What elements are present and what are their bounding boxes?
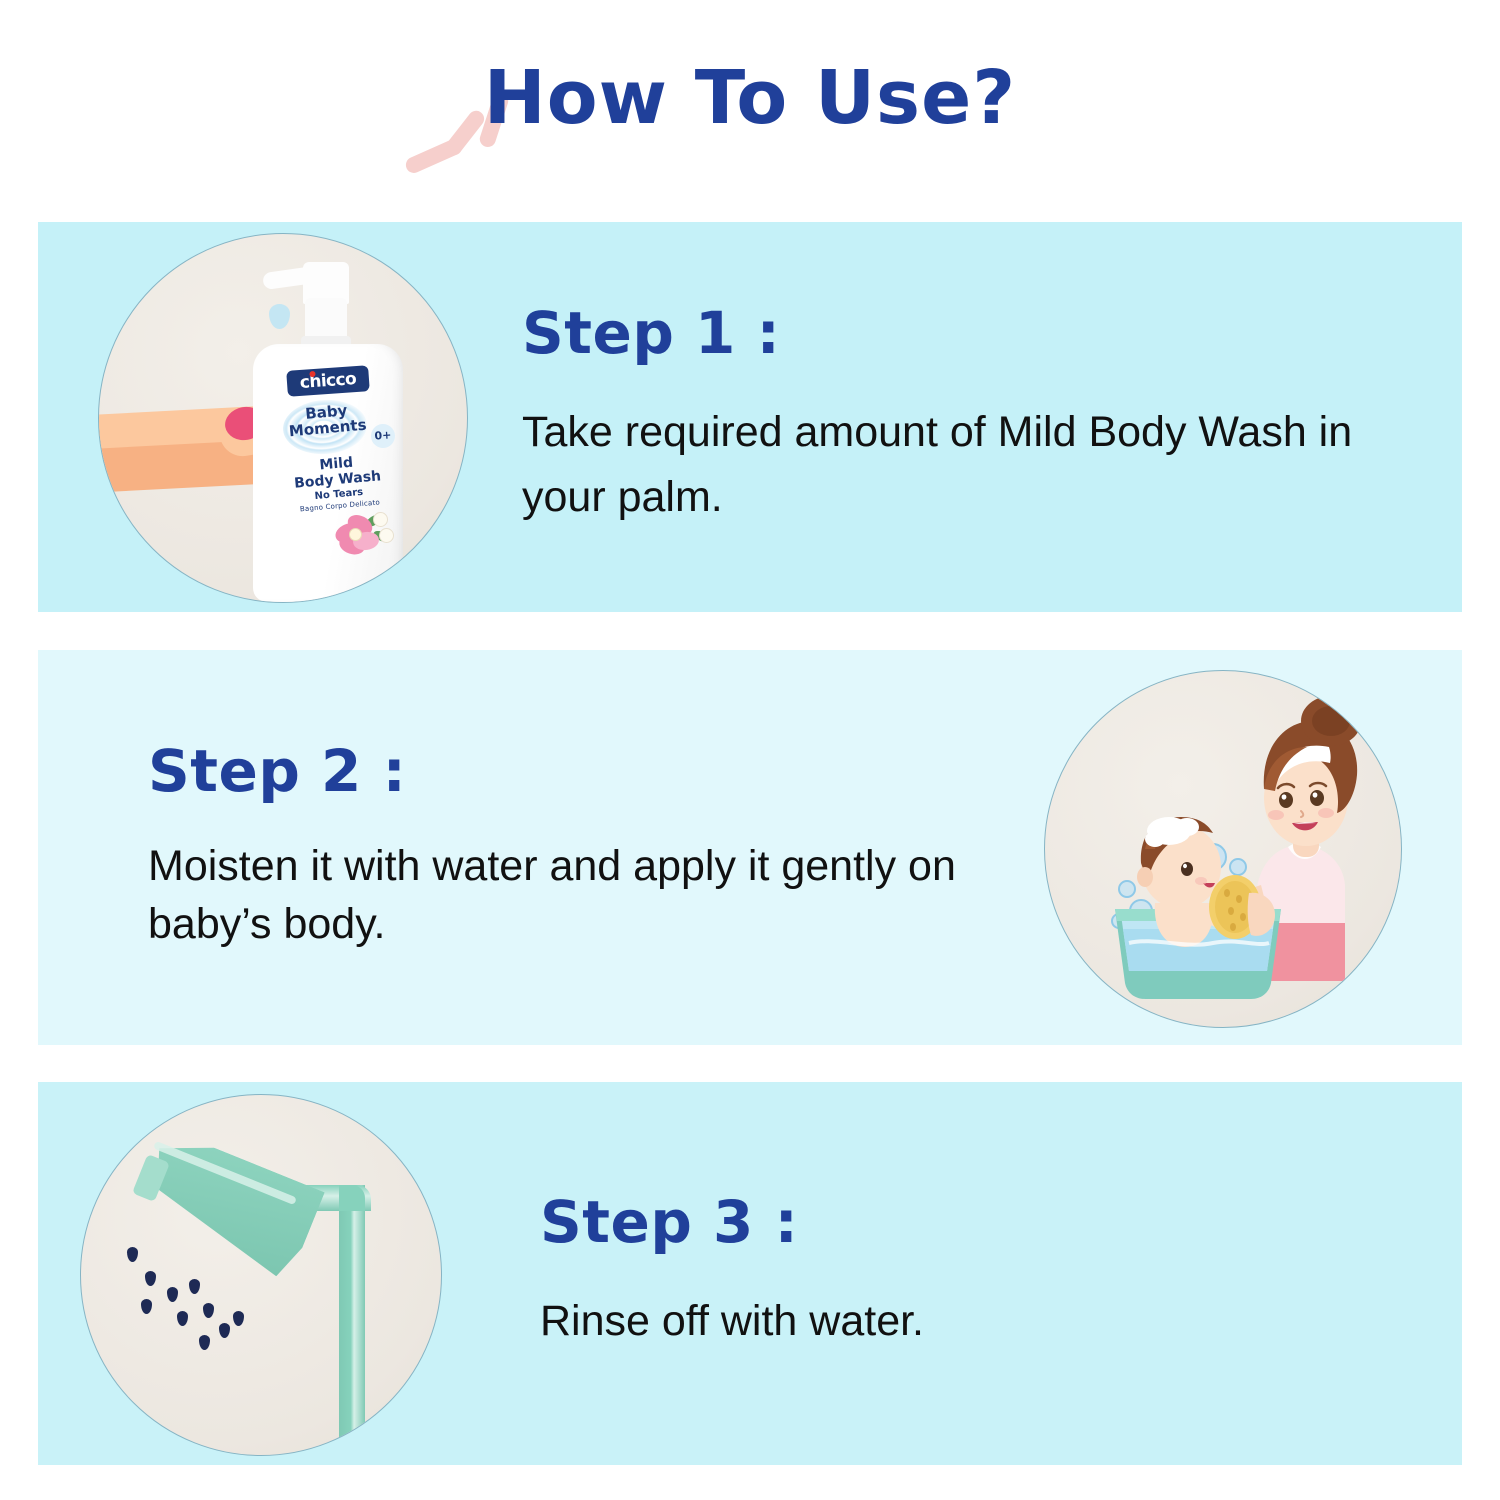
water-drop-5: [189, 1279, 200, 1294]
step-2-illustration: [1044, 670, 1400, 1026]
body-wash-bottle-icon: chicco Baby Moments 0+ Mild Body Wash No…: [253, 258, 403, 602]
flower-bud-2: [379, 528, 394, 543]
step-1-description: Take required amount of Mild Body Wash i…: [522, 400, 1422, 531]
step-panel-1: chicco Baby Moments 0+ Mild Body Wash No…: [38, 222, 1462, 612]
water-drop-2: [145, 1271, 156, 1286]
step-1-text-block: Step 1 : Take required amount of Mild Bo…: [466, 304, 1462, 531]
step-3-description: Rinse off with water.: [540, 1289, 1422, 1354]
step-1-illustration: chicco Baby Moments 0+ Mild Body Wash No…: [98, 233, 466, 601]
water-drop-7: [203, 1303, 214, 1318]
shower-pipe-elbow: [339, 1185, 365, 1211]
water-drop-3: [167, 1287, 178, 1302]
shower-pipe-vertical: [339, 1185, 365, 1453]
step-3-label: Step 3 :: [540, 1193, 1422, 1251]
water-drop-6: [177, 1311, 188, 1326]
step-1-label: Step 1 :: [522, 304, 1422, 362]
step-2-description: Moisten it with water and apply it gentl…: [148, 838, 1008, 952]
step-2-circle-frame: [1044, 670, 1402, 1028]
step-2-label: Step 2 :: [148, 742, 1044, 800]
step-panel-3: Step 3 : Rinse off with water.: [38, 1082, 1462, 1465]
step-3-text-block: Step 3 : Rinse off with water.: [440, 1193, 1462, 1354]
water-drop-9: [199, 1335, 210, 1350]
page-title: How To Use?: [0, 60, 1500, 138]
sparkle-slash-3: [403, 136, 464, 175]
mother-and-baby-bathing-scene: [1045, 671, 1401, 1027]
step-3-circle-frame: [80, 1094, 442, 1456]
soap-droplet-icon: [269, 304, 290, 329]
step-2-text-block: Step 2 : Moisten it with water and apply…: [38, 742, 1044, 952]
water-drop-1: [127, 1247, 138, 1262]
product-description: Mild Body Wash No Tears Bagno Corpo Deli…: [281, 451, 395, 516]
step-3-illustration: [80, 1094, 440, 1454]
how-to-use-infographic: How To Use?: [0, 0, 1500, 1500]
flower-center: [349, 528, 362, 541]
flower-bud-1: [373, 512, 388, 527]
water-drop-8: [219, 1323, 230, 1338]
water-drop-4: [141, 1299, 152, 1314]
step-1-circle-frame: chicco Baby Moments 0+ Mild Body Wash No…: [98, 233, 468, 603]
step-panel-2: Step 2 : Moisten it with water and apply…: [38, 650, 1462, 1045]
water-drop-10: [233, 1311, 244, 1326]
title-area: How To Use?: [0, 60, 1500, 180]
brand-logo-text: chicco: [299, 369, 357, 393]
flower-graphic-icon: [335, 510, 391, 562]
